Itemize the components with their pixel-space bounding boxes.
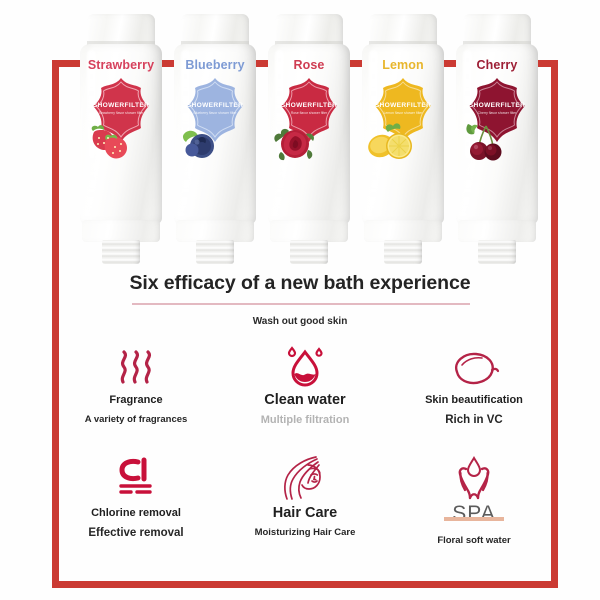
feature-title: Chlorine removal xyxy=(52,507,220,520)
product-bottle-strawberry[interactable]: Strawberry SHOWERFILTER Strawberry flavo… xyxy=(78,14,164,262)
feature-title: Fragrance xyxy=(52,394,220,407)
chlorine-cl-icon xyxy=(52,453,220,501)
hair-woman-icon xyxy=(221,453,389,501)
product-bottle-lemon[interactable]: Lemon SHOWERFILTER Lemon flavor shower f… xyxy=(360,14,446,262)
feature-spa[interactable]: SPA Floral soft water xyxy=(390,453,558,546)
label-subtext: Cherry flavor shower filter xyxy=(466,111,528,116)
bottle-nozzle xyxy=(384,240,422,264)
feature-grid: Fragrance A variety of fragrances Clean … xyxy=(52,340,558,570)
flavour-name: Lemon xyxy=(360,58,446,72)
feature-hair-care[interactable]: Hair Care Moisturizing Hair Care xyxy=(221,453,389,538)
lemon-image xyxy=(366,120,416,164)
product-lineup: Strawberry SHOWERFILTER Strawberry flavo… xyxy=(0,0,600,262)
lemon-outline-icon xyxy=(390,340,558,388)
product-bottle-rose[interactable]: Rose SHOWERFILTER Rose flavor shower fil… xyxy=(266,14,352,262)
feature-skin-beautification[interactable]: Skin beautification Rich in VC xyxy=(390,340,558,426)
spa-word: SPA xyxy=(448,507,499,520)
feature-title: Clean water xyxy=(221,394,389,407)
label-title: SHOWERFILTER xyxy=(275,102,343,109)
feature-title: Hair Care xyxy=(221,507,389,520)
page-subtitle: Wash out good skin xyxy=(0,316,600,327)
product-bottle-cherry[interactable]: Cherry SHOWERFILTER Cherry flavor shower… xyxy=(454,14,540,262)
bottle-collar xyxy=(270,220,348,242)
label-title: SHOWERFILTER xyxy=(87,102,155,109)
label-subtext: Strawberry flavor shower filter xyxy=(90,111,152,116)
feature-caption: Moisturizing Hair Care xyxy=(221,527,389,538)
strawberry-image xyxy=(84,118,132,162)
feature-caption: Floral soft water xyxy=(390,535,558,546)
label-title: SHOWERFILTER xyxy=(369,102,437,109)
bottle-cap xyxy=(463,14,531,48)
bottle-cap xyxy=(275,14,343,48)
label-title: SHOWERFILTER xyxy=(463,102,531,109)
page-title: Six efficacy of a new bath experience xyxy=(0,272,600,295)
bottle-collar xyxy=(458,220,536,242)
feature-caption: Rich in VC xyxy=(390,414,558,426)
feature-caption: A variety of fragrances xyxy=(52,414,220,425)
label-subtext: Rose flavor shower filter xyxy=(278,111,340,116)
water-drop-icon xyxy=(221,340,389,388)
bottle-cap xyxy=(87,14,155,48)
feature-title: Skin beautification xyxy=(390,394,558,407)
blueberry-image xyxy=(180,126,224,164)
bottle-nozzle xyxy=(290,240,328,264)
flavour-name: Blueberry xyxy=(172,58,258,72)
product-bottle-blueberry[interactable]: Blueberry SHOWERFILTER Blueberry flavor … xyxy=(172,14,258,262)
label-subtext: Lemon flavor shower filter xyxy=(372,111,434,116)
fragrance-waves-icon xyxy=(52,340,220,388)
label-title: SHOWERFILTER xyxy=(181,102,249,109)
rose-image xyxy=(272,122,320,164)
label-subtext: Blueberry flavor shower filter xyxy=(184,111,246,116)
bottle-collar xyxy=(82,220,160,242)
title-divider xyxy=(132,303,470,305)
flavour-name: Cherry xyxy=(454,58,540,72)
bottle-nozzle xyxy=(196,240,234,264)
product-infographic: Strawberry SHOWERFILTER Strawberry flavo… xyxy=(0,0,600,600)
hands-drop-spa-icon xyxy=(390,453,558,501)
cherry-image xyxy=(460,118,508,164)
bottle-collar xyxy=(176,220,254,242)
flavour-name: Rose xyxy=(266,58,352,72)
feature-chlorine-removal[interactable]: Chlorine removal Effective removal xyxy=(52,453,220,539)
feature-title: SPA xyxy=(390,507,558,524)
feature-clean-water[interactable]: Clean water Multiple filtration xyxy=(221,340,389,426)
bottle-cap xyxy=(181,14,249,48)
feature-fragrance[interactable]: Fragrance A variety of fragrances xyxy=(52,340,220,425)
feature-caption: Multiple filtration xyxy=(221,414,389,426)
bottle-cap xyxy=(369,14,437,48)
feature-caption: Effective removal xyxy=(52,527,220,539)
bottle-collar xyxy=(364,220,442,242)
flavour-name: Strawberry xyxy=(78,58,164,72)
bottle-nozzle xyxy=(478,240,516,264)
bottle-nozzle xyxy=(102,240,140,264)
